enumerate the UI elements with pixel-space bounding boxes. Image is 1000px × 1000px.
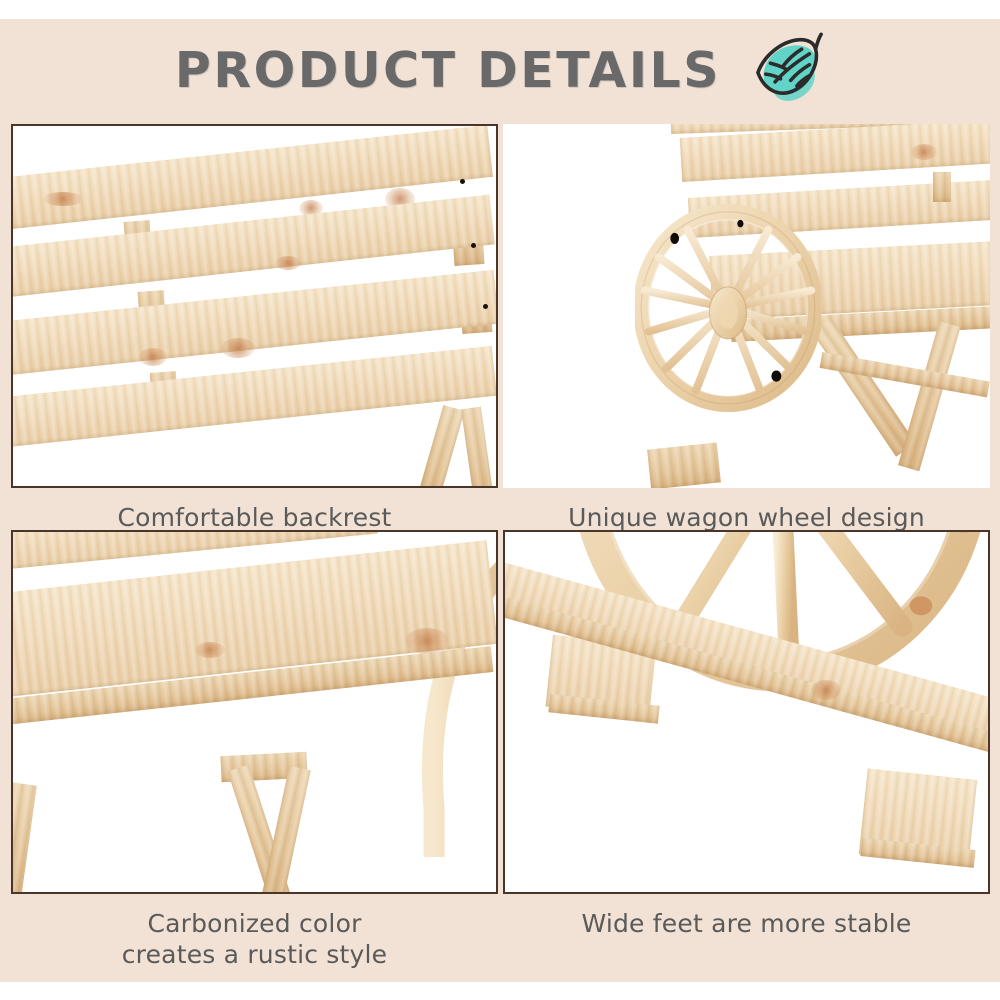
caption-carbonized-color-line1: Carbonized color [147, 909, 361, 938]
photo-wide-feet [505, 532, 988, 892]
caption-wide-feet: Wide feet are more stable [503, 894, 990, 939]
panel-carbonized-color: Carbonized color creates a rustic style [11, 530, 498, 970]
product-details-page: PRODUCT DETAILS [0, 0, 1000, 1000]
photo-carbonized-color [13, 532, 496, 892]
photo-frame-backrest [11, 124, 498, 488]
panel-wide-feet: Wide feet are more stable [503, 530, 990, 939]
caption-carbonized-color: Carbonized color creates a rustic style [11, 894, 498, 970]
panel-backrest: Comfortable backrest [11, 124, 498, 533]
caption-wagon-wheel-line1: Unique wagon wheel design [568, 503, 925, 532]
caption-carbonized-color-line2: creates a rustic style [11, 939, 498, 970]
caption-backrest-line1: Comfortable backrest [117, 503, 391, 532]
photo-frame-wide-feet [503, 530, 990, 894]
photo-frame-carbonized-color [11, 530, 498, 894]
caption-backrest: Comfortable backrest [11, 488, 498, 533]
wagon-wheel-graphic [635, 146, 821, 476]
page-title: PRODUCT DETAILS [175, 46, 721, 95]
photo-backrest [13, 126, 496, 486]
photo-frame-wagon-wheel [503, 124, 990, 488]
photo-wagon-wheel [503, 124, 990, 488]
details-grid: Comfortable backrest [0, 124, 1000, 976]
leaf-icon [747, 31, 825, 111]
page-header: PRODUCT DETAILS [0, 24, 1000, 116]
caption-wagon-wheel: Unique wagon wheel design [503, 488, 990, 533]
caption-wide-feet-line1: Wide feet are more stable [581, 909, 911, 938]
panel-wagon-wheel: Unique wagon wheel design [503, 124, 990, 533]
